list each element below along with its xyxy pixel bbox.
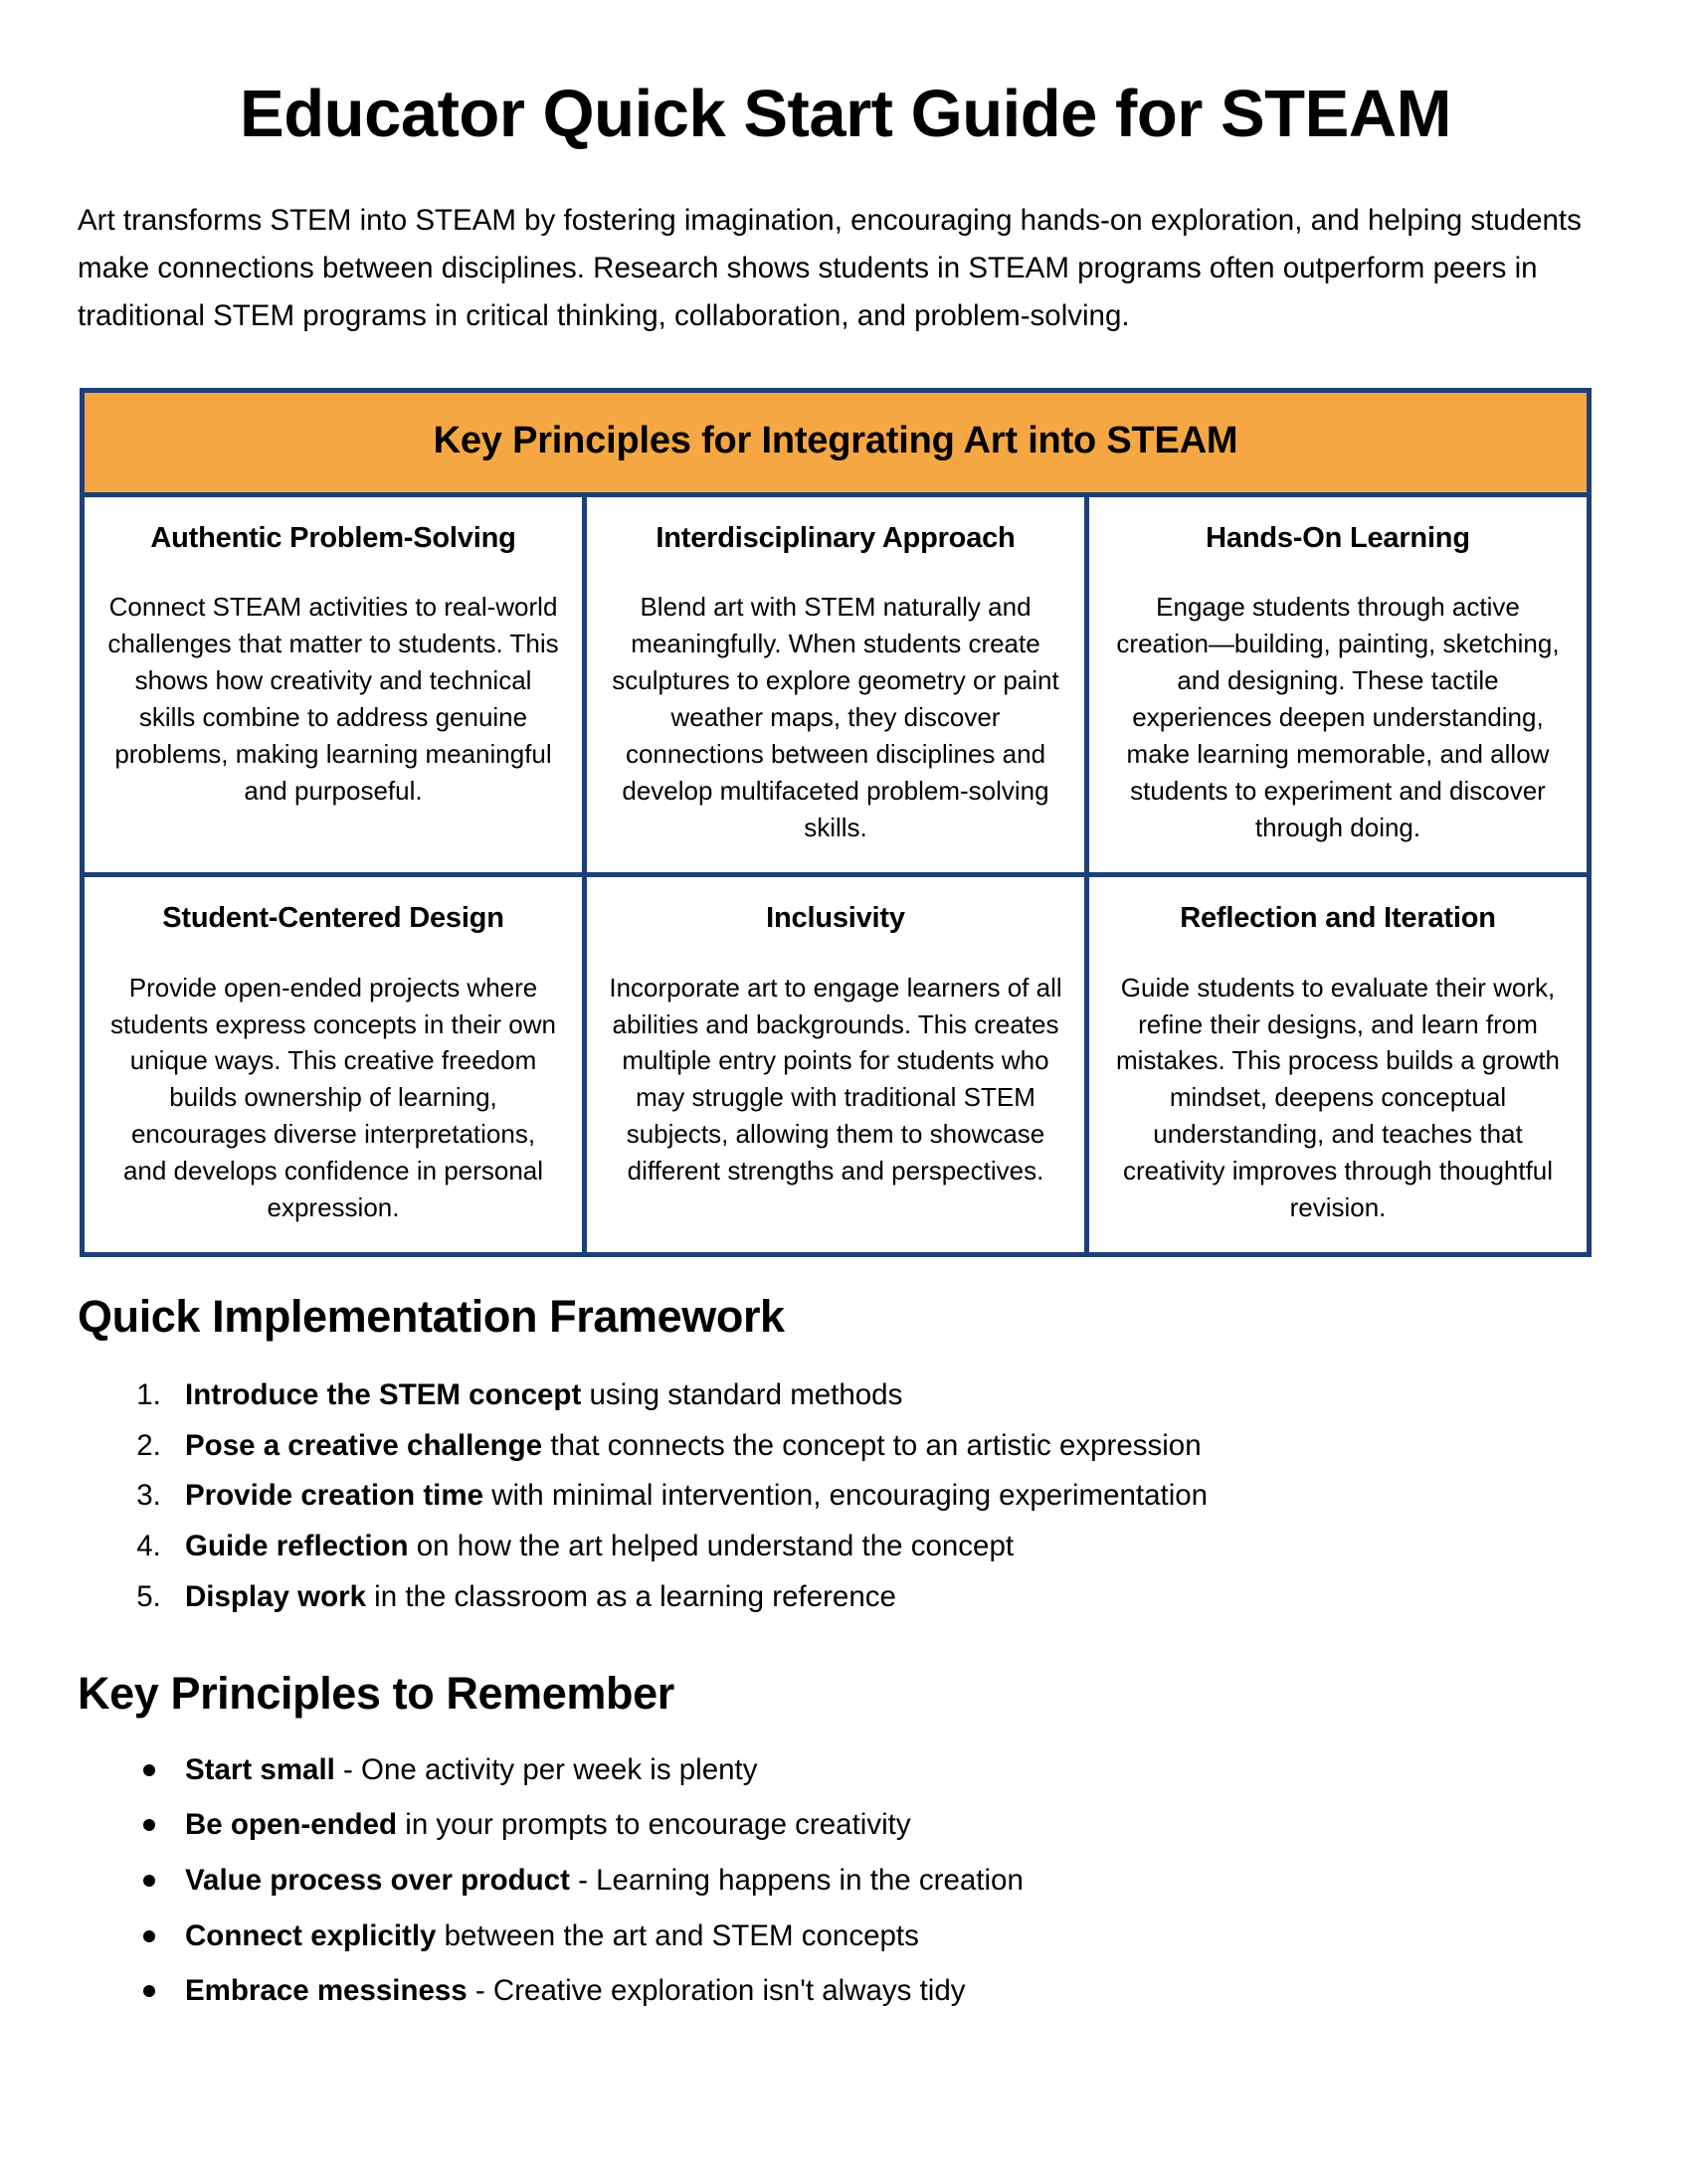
cell-body: Connect STEAM activities to real-world c…	[106, 589, 560, 809]
key-principles-table: Key Principles for Integrating Art into …	[80, 388, 1592, 1257]
list-item-rest: using standard methods	[581, 1378, 902, 1411]
cell-title: Reflection and Iteration	[1111, 901, 1565, 936]
list-item-rest: that connects the concept to an artistic…	[542, 1429, 1201, 1462]
list-item-rest: on how the art helped understand the con…	[409, 1530, 1014, 1562]
list-item-lead: Pose a creative challenge	[185, 1429, 542, 1462]
cell-title: Interdisciplinary Approach	[609, 521, 1062, 556]
list-item-lead: Start small	[185, 1753, 335, 1786]
table-row: Authentic Problem-Solving Connect STEAM …	[85, 497, 1587, 877]
table-row: Student-Centered Design Provide open-end…	[85, 877, 1587, 1252]
remember-bullet-list: Start small - One activity per week is p…	[74, 1747, 1617, 2015]
list-item-lead: Guide reflection	[185, 1530, 409, 1562]
list-item: Be open-ended in your prompts to encoura…	[169, 1802, 1617, 1848]
list-item-lead: Introduce the STEM concept	[185, 1378, 581, 1411]
cell-body: Provide open-ended projects where studen…	[106, 970, 560, 1226]
cell-title: Student-Centered Design	[106, 901, 560, 936]
list-item-rest: between the art and STEM concepts	[436, 1919, 918, 1952]
table-cell-student-centered-design: Student-Centered Design Provide open-end…	[85, 877, 587, 1252]
cell-title: Hands-On Learning	[1111, 521, 1565, 556]
list-item-lead: Value process over product	[185, 1864, 570, 1897]
list-item-lead: Display work	[185, 1580, 366, 1613]
list-item: Start small - One activity per week is p…	[169, 1747, 1617, 1793]
cell-body: Blend art with STEM naturally and meanin…	[609, 589, 1062, 845]
list-item: Introduce the STEM concept using standar…	[169, 1372, 1617, 1418]
list-item: Guide reflection on how the art helped u…	[169, 1524, 1617, 1569]
list-item-rest: in your prompts to encourage creativity	[397, 1808, 911, 1841]
list-item-rest: in the classroom as a learning reference	[366, 1580, 896, 1613]
table-header-band: Key Principles for Integrating Art into …	[85, 393, 1587, 497]
bullet-icon	[143, 1875, 155, 1887]
list-item-lead: Connect explicitly	[185, 1919, 436, 1952]
list-item: Connect explicitly between the art and S…	[169, 1913, 1617, 1959]
list-item: Display work in the classroom as a learn…	[169, 1574, 1617, 1620]
table-cell-authentic-problem-solving: Authentic Problem-Solving Connect STEAM …	[85, 497, 587, 872]
cell-body: Guide students to evaluate their work, r…	[1111, 970, 1565, 1226]
intro-paragraph: Art transforms STEM into STEAM by foster…	[78, 197, 1590, 339]
cell-title: Inclusivity	[609, 901, 1062, 936]
list-item: Pose a creative challenge that connects …	[169, 1423, 1617, 1469]
list-item-lead: Embrace messiness	[185, 1974, 468, 2007]
cell-body: Incorporate art to engage learners of al…	[609, 970, 1062, 1189]
remember-heading: Key Principles to Remember	[78, 1668, 1617, 1720]
list-item: Provide creation time with minimal inter…	[169, 1473, 1617, 1519]
list-item-rest: with minimal intervention, encouraging e…	[483, 1479, 1208, 1512]
bullet-icon	[143, 1985, 155, 1997]
document-page: Educator Quick Start Guide for STEAM Art…	[0, 0, 1691, 2184]
table-header-title: Key Principles for Integrating Art into …	[94, 420, 1577, 462]
table-cell-hands-on-learning: Hands-On Learning Engage students throug…	[1089, 497, 1587, 872]
table-cell-inclusivity: Inclusivity Incorporate art to engage le…	[587, 877, 1089, 1252]
bullet-icon	[143, 1930, 155, 1942]
framework-ordered-list: Introduce the STEM concept using standar…	[74, 1372, 1617, 1620]
list-item-rest: - One activity per week is plenty	[335, 1753, 758, 1786]
list-item-rest: - Learning happens in the creation	[570, 1864, 1024, 1897]
table-cell-interdisciplinary-approach: Interdisciplinary Approach Blend art wit…	[587, 497, 1089, 872]
table-cell-reflection-and-iteration: Reflection and Iteration Guide students …	[1089, 877, 1587, 1252]
list-item-lead: Provide creation time	[185, 1479, 483, 1512]
framework-heading: Quick Implementation Framework	[78, 1291, 1617, 1343]
list-item-rest: - Creative exploration isn't always tidy	[468, 1974, 966, 2007]
list-item-lead: Be open-ended	[185, 1808, 397, 1841]
cell-body: Engage students through active creation—…	[1111, 589, 1565, 845]
list-item: Embrace messiness - Creative exploration…	[169, 1968, 1617, 2014]
list-item: Value process over product - Learning ha…	[169, 1858, 1617, 1904]
bullet-icon	[143, 1819, 155, 1831]
bullet-icon	[143, 1764, 155, 1776]
cell-title: Authentic Problem-Solving	[106, 521, 560, 556]
page-title: Educator Quick Start Guide for STEAM	[74, 80, 1617, 149]
